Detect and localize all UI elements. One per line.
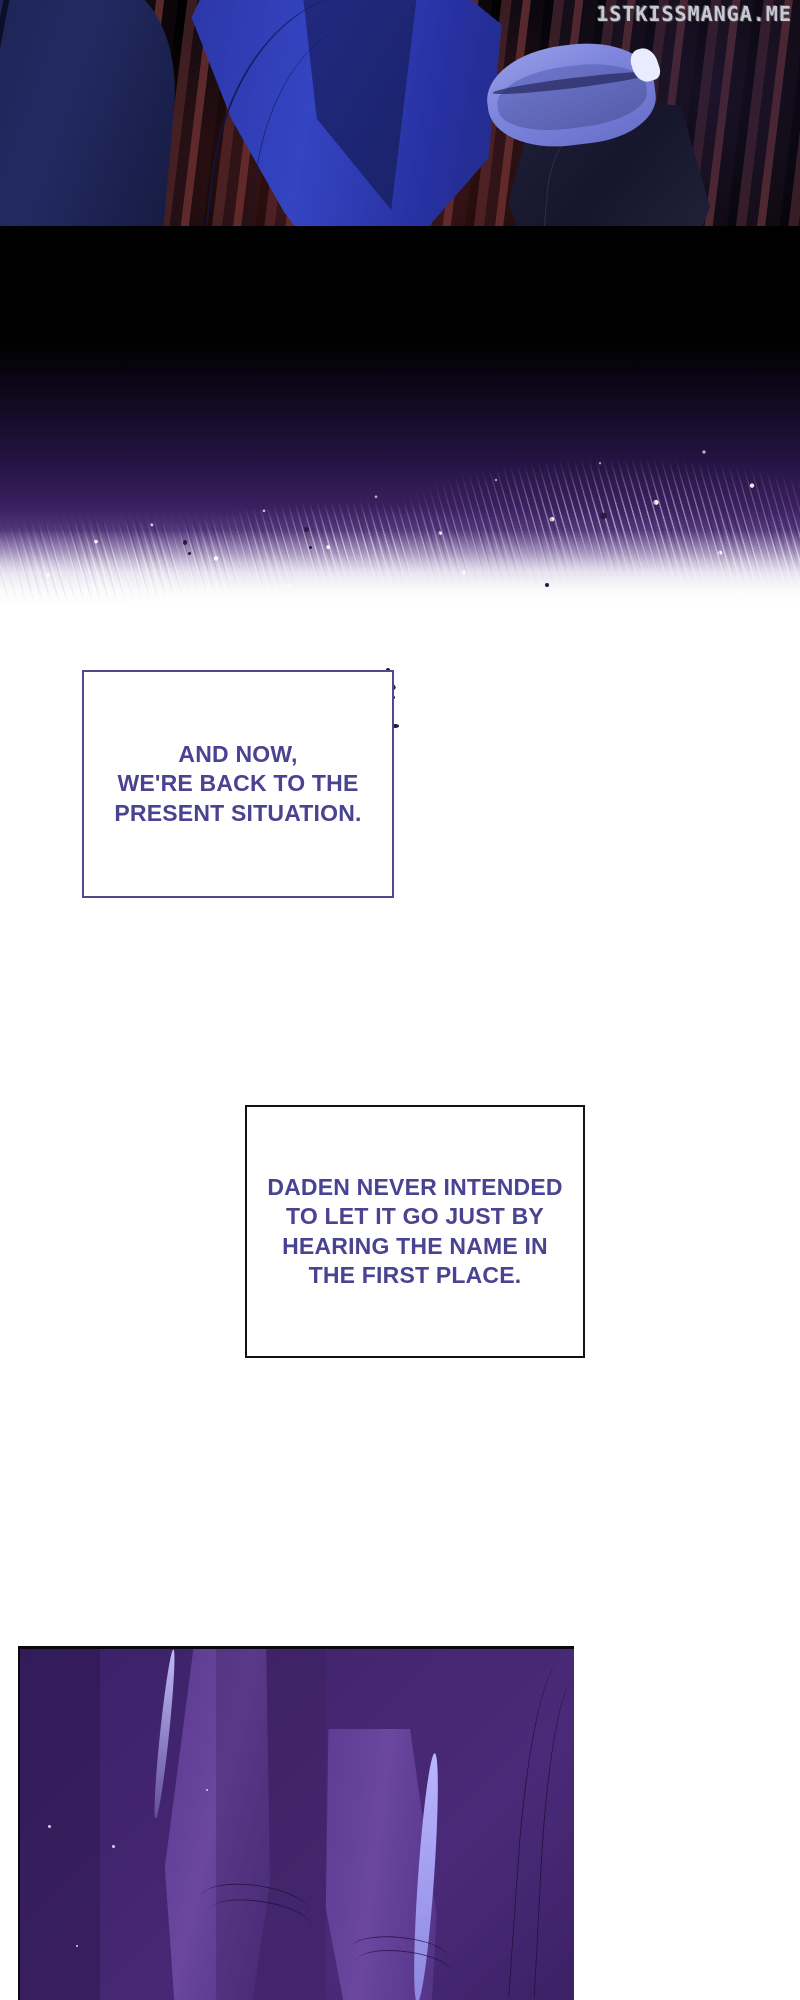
webtoon-page: 1STKISSMANGA.ME AND NOW, WE'RE BACK TO T… xyxy=(0,0,800,2000)
leg-shadow-mid xyxy=(216,1649,326,2000)
caption-box-daden-intent: DADEN NEVER INTENDED TO LET IT GO JUST B… xyxy=(245,1105,585,1358)
caption-text: DADEN NEVER INTENDED TO LET IT GO JUST B… xyxy=(267,1173,562,1291)
sparkle-dot xyxy=(48,1825,51,1828)
dissolve-to-white xyxy=(0,530,800,620)
panel-purple-dissolve xyxy=(0,340,800,620)
stray-fleck xyxy=(188,552,191,555)
stray-fleck xyxy=(183,540,187,545)
panel-purple-legs xyxy=(18,1646,574,2000)
leg-shadow-left xyxy=(20,1649,100,2000)
sparkle-dot xyxy=(76,1945,78,1947)
stray-fleck xyxy=(309,546,312,549)
sparkle-dot xyxy=(112,1845,115,1848)
black-separator-band xyxy=(0,226,800,356)
stray-fleck xyxy=(304,527,309,532)
leg-highlight-left xyxy=(151,1649,178,1819)
caption-box-present-situation: AND NOW, WE'RE BACK TO THE PRESENT SITUA… xyxy=(82,670,394,898)
stray-fleck xyxy=(545,583,549,587)
sparkle-dot xyxy=(206,1789,208,1791)
site-watermark: 1STKISSMANGA.ME xyxy=(596,2,792,26)
caption-text: AND NOW, WE'RE BACK TO THE PRESENT SITUA… xyxy=(114,740,361,828)
